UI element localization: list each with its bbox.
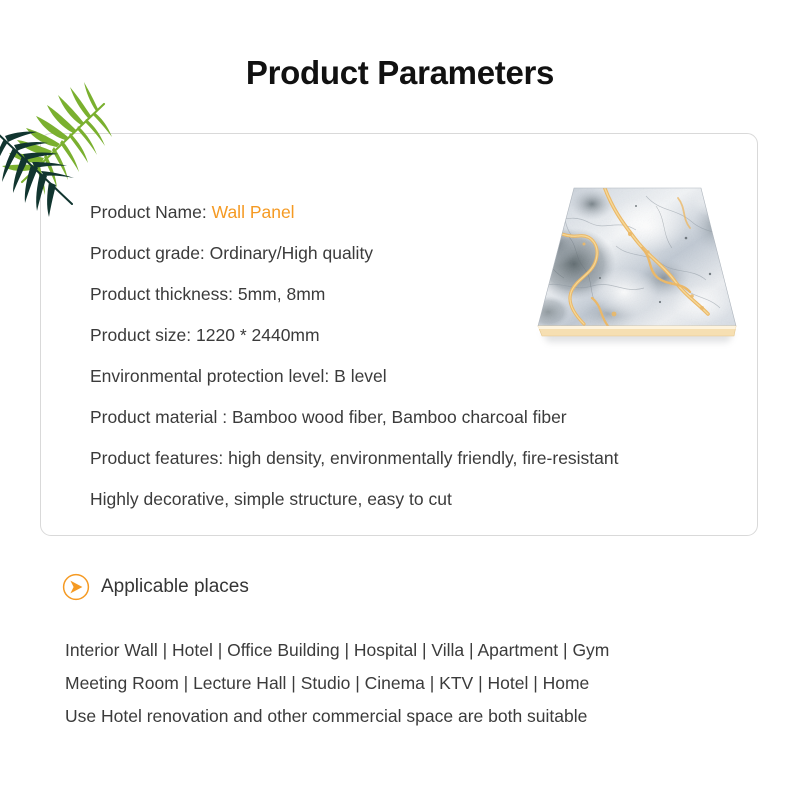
spec-row-environmental-level: Environmental protection level: B level [90,356,710,397]
applicable-places-line: Use Hotel renovation and other commercia… [65,700,765,733]
spec-value: B level [334,366,387,386]
spec-row-product-features-continued: Highly decorative, simple structure, eas… [90,479,710,520]
spec-label: Product size: [90,325,196,345]
page-title: Product Parameters [0,52,800,94]
spec-label: Product features: [90,448,228,468]
spec-label: Product Name: [90,202,212,222]
applicable-places-heading: Applicable places [62,573,249,601]
spec-value: Wall Panel [212,202,295,222]
applicable-places-list: Interior Wall | Hotel | Office Building … [65,634,765,733]
spec-value: high density, environmentally friendly, … [228,448,618,468]
applicable-places-line: Interior Wall | Hotel | Office Building … [65,634,765,667]
spec-label: Product thickness: [90,284,238,304]
spec-row-product-material: Product material : Bamboo wood fiber, Ba… [90,397,710,438]
spec-list: Product Name: Wall Panel Product grade: … [90,192,710,520]
spec-label: Product material : [90,407,232,427]
spec-value: Ordinary/High quality [210,243,373,263]
spec-row-product-features: Product features: high density, environm… [90,438,710,479]
applicable-places-line: Meeting Room | Lecture Hall | Studio | C… [65,667,765,700]
spec-row-product-thickness: Product thickness: 5mm, 8mm [90,274,710,315]
spec-label: Environmental protection level: [90,366,334,386]
spec-value: 1220 * 2440mm [196,325,320,345]
spec-row-product-size: Product size: 1220 * 2440mm [90,315,710,356]
spec-label: Product grade: [90,243,210,263]
spec-value: Highly decorative, simple structure, eas… [90,489,452,509]
spec-row-product-name: Product Name: Wall Panel [90,192,710,233]
spec-row-product-grade: Product grade: Ordinary/High quality [90,233,710,274]
product-parameters-card: Product Name: Wall Panel Product grade: … [40,133,758,536]
applicable-places-label: Applicable places [101,573,249,601]
spec-value: 5mm, 8mm [238,284,326,304]
circle-arrow-right-icon [62,573,90,601]
spec-value: Bamboo wood fiber, Bamboo charcoal fiber [232,407,567,427]
